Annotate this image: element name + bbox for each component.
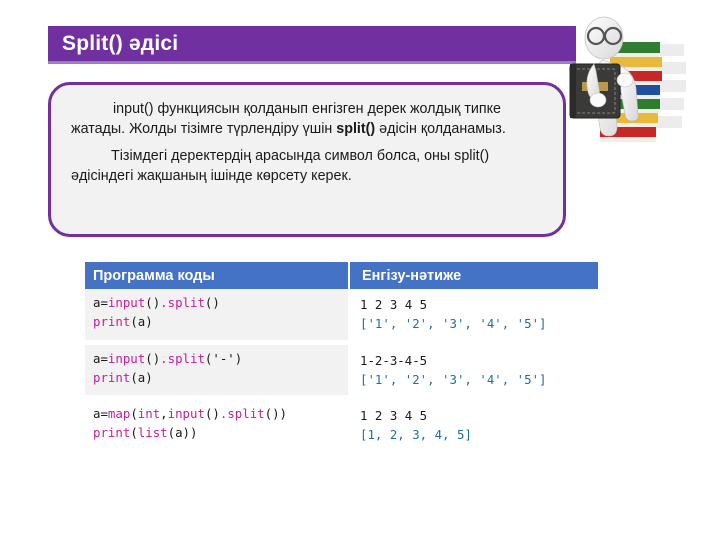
output-line: ['1', '2', '3', '4', '5'] <box>360 315 596 334</box>
code-token: () <box>145 351 160 366</box>
code-line: a=input().split('-') <box>93 350 344 369</box>
callout-content: input() функциясын қолданып енгізген дер… <box>51 85 563 196</box>
figure-arms <box>587 64 633 107</box>
callout-paragraph-1: input() функциясын қолданып енгізген дер… <box>71 99 545 140</box>
code-token: () <box>145 295 160 310</box>
code-token: a= <box>93 406 108 421</box>
figure-body <box>585 17 638 136</box>
code-line: print(list(a)) <box>93 424 344 443</box>
code-line: a=input().split() <box>93 294 344 313</box>
cell-program-code: a=map(int,input().split()) print(list(a)… <box>85 400 348 451</box>
cell-program-code: a=input().split() print(a) <box>85 289 348 340</box>
code-token: (a) <box>130 370 152 385</box>
code-token: ( <box>130 406 137 421</box>
input-line: 1 2 3 4 5 <box>360 296 596 315</box>
code-token: a= <box>93 351 108 366</box>
column-header-program-code: Программа коды <box>85 268 348 284</box>
callout-paragraph-2: Тізімдегі деректердің арасында символ бо… <box>71 146 545 187</box>
book-shadows <box>636 44 686 128</box>
cell-input-result: 1-2-3-4-5 ['1', '2', '3', '4', '5'] <box>348 345 598 396</box>
output-line: ['1', '2', '3', '4', '5'] <box>360 371 596 390</box>
code-token: .split <box>160 351 205 366</box>
code-line: print(a) <box>93 313 344 332</box>
code-token: map <box>108 406 130 421</box>
code-token: () <box>205 406 220 421</box>
code-token: print <box>93 314 130 329</box>
code-token: print <box>93 370 130 385</box>
code-token: .split <box>160 295 205 310</box>
code-token: () <box>205 295 220 310</box>
code-token: .split <box>220 406 265 421</box>
code-token: ('-') <box>205 351 242 366</box>
code-examples-table: Программа коды Енгізу-нәтиже a=input().s… <box>85 262 598 451</box>
page-title: Split() әдісі <box>62 32 178 56</box>
callout-p1-bold: split() <box>336 121 375 137</box>
code-token: input <box>108 351 145 366</box>
input-line: 1 2 3 4 5 <box>360 407 596 426</box>
code-token: (a)) <box>168 425 198 440</box>
code-token: input <box>168 406 205 421</box>
table-row: a=input().split() print(a) 1 2 3 4 5 ['1… <box>85 289 598 341</box>
slide-title-bar: Split() әдісі <box>48 26 576 64</box>
book-stack <box>600 42 662 142</box>
cell-program-code: a=input().split('-') print(a) <box>85 345 348 396</box>
held-book <box>570 64 620 118</box>
code-token: print <box>93 425 130 440</box>
code-token: ()) <box>265 406 287 421</box>
input-line: 1-2-3-4-5 <box>360 352 596 371</box>
code-token: , <box>160 406 167 421</box>
table-row: a=input().split('-') print(a) 1-2-3-4-5 … <box>85 345 598 397</box>
column-header-input-result: Енгізу-нәтиже <box>348 262 598 289</box>
table-header-row: Программа коды Енгізу-нәтиже <box>85 262 598 289</box>
code-token: int <box>138 406 160 421</box>
output-line: [1, 2, 3, 4, 5] <box>360 426 596 445</box>
code-line: print(a) <box>93 369 344 388</box>
code-token: (a) <box>130 314 152 329</box>
cell-input-result: 1 2 3 4 5 [1, 2, 3, 4, 5] <box>348 400 598 451</box>
code-token: a= <box>93 295 108 310</box>
cell-input-result: 1 2 3 4 5 ['1', '2', '3', '4', '5'] <box>348 289 598 340</box>
character-with-books-illustration <box>568 8 718 148</box>
callout-box: input() функциясын қолданып енгізген дер… <box>48 82 566 237</box>
code-line: a=map(int,input().split()) <box>93 405 344 424</box>
code-token: ( <box>130 425 137 440</box>
callout-p1-part2: әдісін қолданамыз. <box>375 121 506 137</box>
code-token: input <box>108 295 145 310</box>
table-row: a=map(int,input().split()) print(list(a)… <box>85 400 598 451</box>
code-token: list <box>138 425 168 440</box>
